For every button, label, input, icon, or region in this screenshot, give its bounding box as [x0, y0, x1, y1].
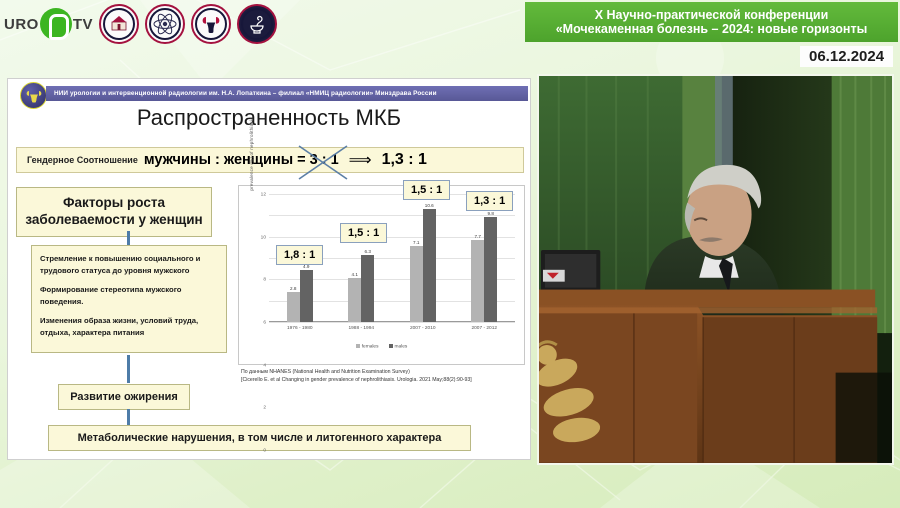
building-icon [107, 12, 131, 36]
chart-bar-males: 10.6 [423, 209, 436, 322]
chart-legend: femalesmales [239, 344, 524, 349]
chart-x-tick: 2007 - 2012 [471, 326, 497, 331]
ratio-callout-1: 1,8 : 1 [276, 245, 323, 265]
chart-y-tick: 10 [261, 235, 266, 240]
ratio-callout-2: 1,5 : 1 [340, 223, 387, 243]
chart-x-tick: 1976 - 1980 [287, 326, 313, 331]
video-frame [539, 76, 892, 463]
cross-out-icon [295, 143, 355, 183]
chart-bar-females: 2.8 [287, 292, 300, 322]
urotv-post-label: TV [73, 16, 93, 33]
gender-ratio-statement-wrap: мужчины : женщины = 3 : 1 [144, 151, 339, 169]
conference-banner: X Научно-практической конференции «Мочек… [525, 2, 898, 42]
conference-title-line1: X Научно-практической конференции [595, 8, 829, 22]
metabolic-disorders-box: Метаболические нарушения, в том числе и … [48, 425, 471, 451]
atom-radiology-logo[interactable] [145, 4, 185, 44]
chart-data-label: 2.8 [290, 286, 296, 291]
chart-gridline: 0 [269, 322, 515, 323]
chart-data-label: 9.8 [488, 211, 494, 216]
snake-bowl-icon [245, 12, 269, 36]
atom-icon [152, 11, 178, 37]
urotv-logo[interactable]: URO TV [4, 8, 93, 40]
chart-bar-group: 4.16.31988 - 1994 [331, 194, 393, 322]
gender-ratio-result: 1,3 : 1 [382, 151, 427, 169]
chart-y-tick: 2 [263, 406, 266, 411]
chart-y-tick: 4 [263, 363, 266, 368]
factor-item: Изменения образа жизни, условий труда, о… [40, 315, 218, 338]
chart-y-tick: 8 [263, 278, 266, 283]
chart-y-tick: 0 [263, 449, 266, 454]
ratio-callout-3: 1,5 : 1 [403, 180, 450, 200]
chart-data-label: 10.6 [425, 203, 434, 208]
chart-data-label: 4.1 [352, 272, 358, 277]
bowl-of-hygieia-logo[interactable] [237, 4, 277, 44]
logo-strip: URO TV [4, 4, 277, 44]
chart-legend-swatch [356, 344, 360, 348]
chart-bar-females: 7.7 [471, 240, 484, 322]
conference-speaker-video[interactable] [537, 74, 894, 465]
kidney-emblem-icon [25, 87, 43, 105]
slide-title: Распространенность МКБ [8, 105, 530, 131]
institute-title-text: НИИ урологии и интервенционной радиологи… [54, 90, 437, 97]
factor-item: Стремление к повышению социального и тру… [40, 253, 218, 276]
chart-bar-group: 7.79.82007 - 2012 [454, 194, 516, 322]
growth-factors-list-box: Стремление к повышению социального и тру… [31, 245, 227, 353]
chart-bar-males: 9.8 [484, 217, 497, 322]
obesity-box: Развитие ожирения [58, 384, 190, 410]
chart-bar-males: 6.3 [361, 255, 374, 322]
prevalence-bar-chart: prevalence (%) of nephrolithiasis 024681… [238, 185, 525, 365]
factor-item: Формирование стереотипа мужского поведен… [40, 284, 218, 307]
chart-y-tick: 12 [261, 193, 266, 198]
chart-data-label: 7.7 [475, 234, 481, 239]
chart-citation: По данным NHANES (National Health and Nu… [241, 369, 531, 385]
chart-y-tick: 6 [263, 321, 266, 326]
urotv-pre-label: URO [4, 16, 39, 33]
flow-connector-2 [127, 355, 130, 383]
institute-building-logo[interactable] [99, 4, 139, 44]
citation-line-1: По данным NHANES (National Health and Nu… [241, 369, 531, 377]
chart-data-label: 6.3 [365, 249, 371, 254]
broadcast-date: 06.12.2024 [800, 46, 893, 67]
chart-bar-females: 7.1 [410, 246, 423, 322]
institute-title-bar: НИИ урологии и интервенционной радиологи… [46, 86, 528, 101]
chart-bar-females: 4.1 [348, 278, 361, 322]
flow-connector-1 [127, 231, 130, 245]
gender-ratio-bar: Гендерное Соотношение мужчины : женщины … [16, 147, 524, 173]
chart-legend-swatch [389, 344, 393, 348]
growth-factors-header-box: Факторы роста заболеваемости у женщин [16, 187, 212, 237]
chart-legend-item: females [356, 344, 379, 349]
top-bar: URO TV [0, 0, 900, 72]
conference-title-line2: «Мочекаменная болезнь – 2024: новые гори… [556, 22, 868, 36]
chart-legend-item: males [389, 344, 408, 349]
kidney-urology-logo[interactable] [191, 4, 231, 44]
presentation-slide[interactable]: НИИ урологии и интервенционной радиологи… [7, 78, 531, 460]
kidney-icon [199, 12, 223, 36]
laptop [541, 250, 600, 292]
urotv-emblem-icon [40, 8, 72, 40]
chart-x-tick: 2007 - 2010 [410, 326, 436, 331]
chart-y-axis-label: prevalence (%) of nephrolithiasis [249, 100, 254, 208]
chart-bar-group: 7.110.62007 - 2010 [392, 194, 454, 322]
chart-data-label: 7.1 [413, 240, 419, 245]
citation-line-2: [Cicerello E. et al Changing in gender p… [241, 377, 531, 385]
chart-bar-males: 4.9 [300, 270, 313, 322]
gender-ratio-label: Гендерное Соотношение [27, 155, 138, 165]
flow-connector-3 [127, 409, 130, 425]
chart-x-tick: 1988 - 1994 [348, 326, 374, 331]
ratio-callout-4: 1,3 : 1 [466, 191, 513, 211]
